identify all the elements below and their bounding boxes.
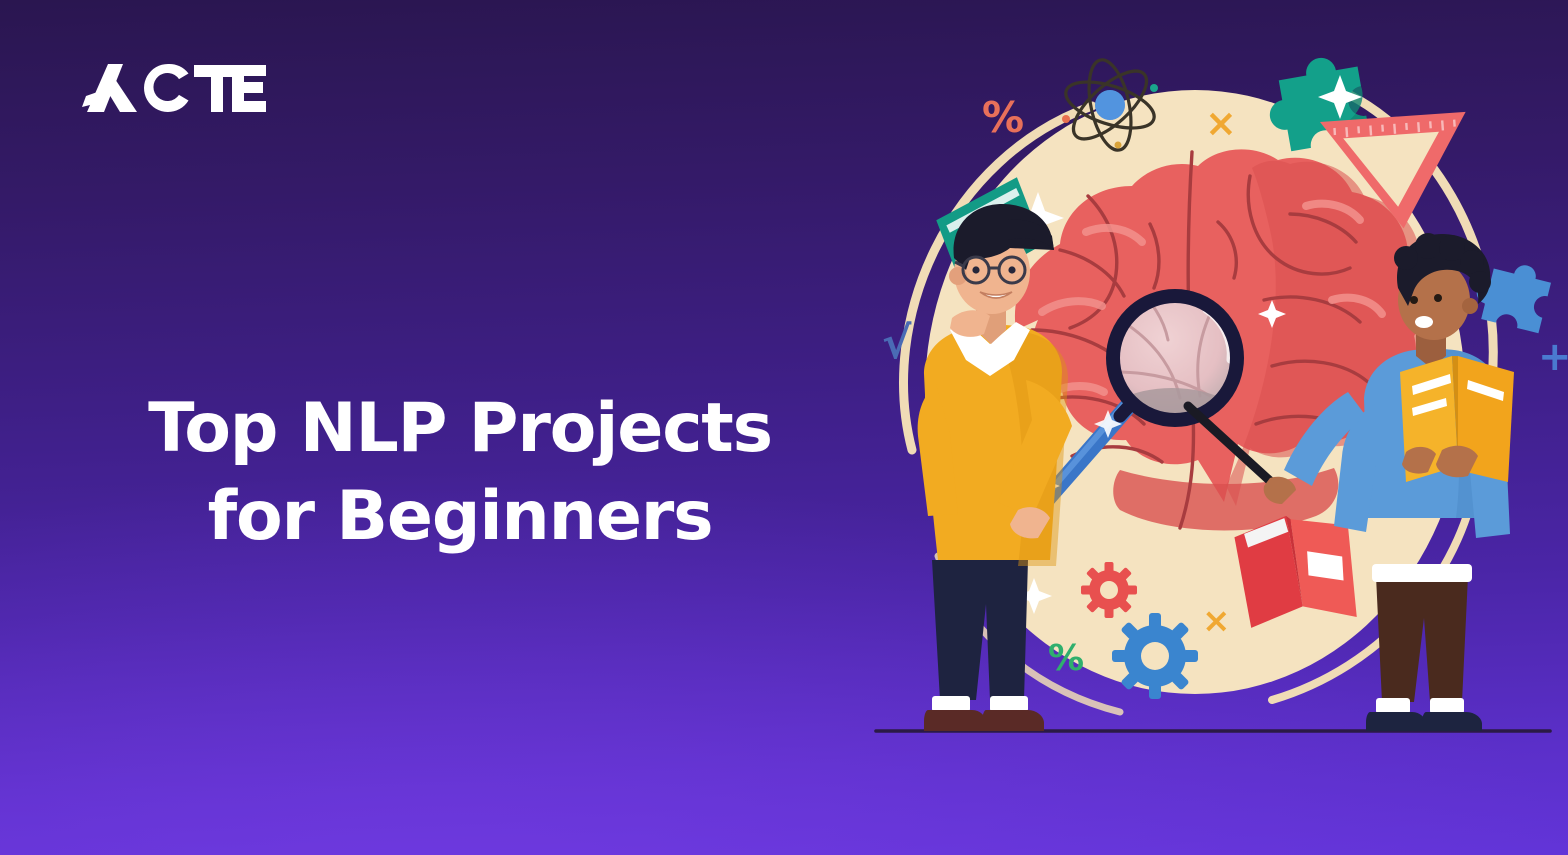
banner: ACTE Top NLP Projects for Beginners: [0, 0, 1568, 855]
plus-symbol-icon: +: [1538, 334, 1568, 380]
acte-logo[interactable]: ACTE: [82, 62, 266, 124]
page-title-line-1: Top NLP Projects: [60, 385, 860, 473]
times-symbol-bottom-icon: ×: [1202, 601, 1231, 641]
gear-large-blue-icon: [1112, 613, 1198, 699]
page-title-line-2: for Beginners: [60, 473, 860, 561]
page-title: Top NLP Projects for Beginners: [60, 385, 860, 561]
percent-symbol-top-icon: %: [982, 93, 1024, 142]
nlp-brain-illustration: % % × × √ +: [820, 0, 1568, 855]
gear-small-red-icon: [1081, 562, 1137, 618]
square-root-symbol-icon: √: [882, 318, 912, 369]
times-symbol-top-icon: ×: [1205, 101, 1237, 145]
percent-symbol-bottom-icon: %: [1048, 638, 1084, 679]
